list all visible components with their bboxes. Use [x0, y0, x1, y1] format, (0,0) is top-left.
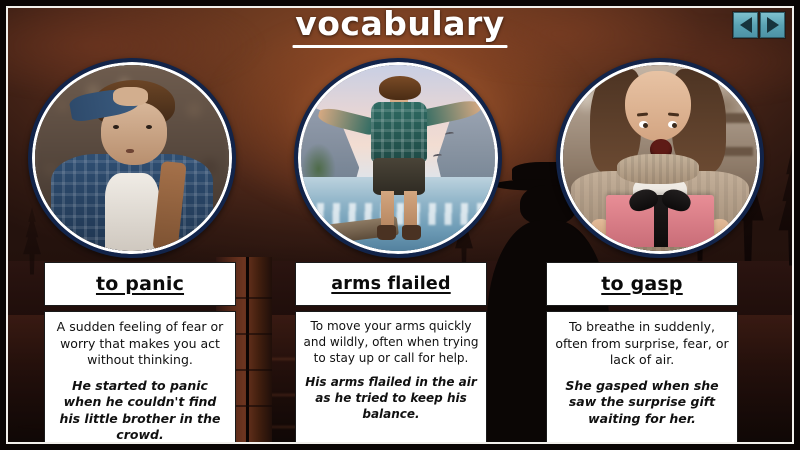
hair [379, 76, 422, 100]
illustration-gasp [563, 65, 757, 251]
boy-arms-outstretched-over-water-illustration [301, 65, 495, 251]
vocabulary-image-3[interactable] [556, 58, 764, 258]
term-body-3: To breathe in suddenly, often from surpr… [546, 311, 738, 450]
pupil-left [643, 123, 648, 128]
term-1: to panic [96, 273, 184, 295]
vocabulary-card-3: to gasp To breathe in suddenly, often fr… [546, 262, 738, 450]
hand-shading-eyes [113, 87, 148, 106]
shorts [373, 158, 425, 195]
example-2: His arms flailed in the air as he tried … [303, 375, 479, 422]
term-body-1: A sudden feeling of fear or worry that m… [44, 311, 236, 450]
navigation-controls [732, 11, 786, 39]
vocabulary-cards-row: to panic A sudden feeling of fear or wor… [0, 262, 800, 450]
eye-left [113, 125, 119, 129]
mouth [126, 149, 134, 153]
term-title-box-1: to panic [44, 262, 236, 306]
leg-right [404, 191, 418, 228]
term-title-box-3: to gasp [546, 262, 738, 306]
vocabulary-image-2[interactable] [294, 58, 502, 258]
slide-header: vocabulary [0, 0, 800, 56]
vocabulary-slide: vocabulary [0, 0, 800, 450]
boot-right [402, 225, 421, 240]
title-underline [293, 45, 508, 48]
white-tshirt [105, 173, 159, 251]
illustration-arms-flailed [301, 65, 495, 251]
plaid-shirt [371, 102, 427, 162]
gift-bow [629, 190, 691, 210]
previous-button[interactable] [733, 12, 758, 38]
illustration-panic [35, 65, 229, 251]
surprised-woman-holding-gift-photo [563, 65, 757, 251]
example-1: He started to panic when he couldn't fin… [52, 378, 228, 444]
vocabulary-card-2: arms flailed To move your arms quickly a… [295, 262, 487, 450]
definition-2: To move your arms quickly and wildly, of… [303, 319, 479, 366]
face [625, 71, 691, 142]
boot-left [377, 225, 396, 240]
definition-3: To breathe in suddenly, often from surpr… [554, 319, 730, 369]
leg-left [381, 191, 395, 228]
definition-1: A sudden feeling of fear or worry that m… [52, 319, 228, 369]
triangle-left-icon [740, 17, 752, 33]
water-foam [301, 203, 495, 225]
vocabulary-image-1[interactable] [28, 58, 236, 258]
term-3: to gasp [601, 273, 682, 295]
next-button[interactable] [760, 12, 785, 38]
page-title: vocabulary [0, 4, 800, 43]
term-title-box-2: arms flailed [295, 262, 487, 306]
triangle-right-icon [767, 17, 779, 33]
turtleneck-collar [617, 154, 698, 184]
pupil-right [672, 123, 677, 128]
example-3: She gasped when she saw the surprise gif… [554, 378, 730, 428]
eye-right [146, 125, 152, 129]
vocabulary-card-1: to panic A sudden feeling of fear or wor… [44, 262, 236, 450]
worried-teen-in-crowd-photo [35, 65, 229, 251]
term-body-2: To move your arms quickly and wildly, of… [295, 311, 487, 450]
vocabulary-images-row [0, 58, 800, 258]
term-2: arms flailed [331, 274, 450, 294]
